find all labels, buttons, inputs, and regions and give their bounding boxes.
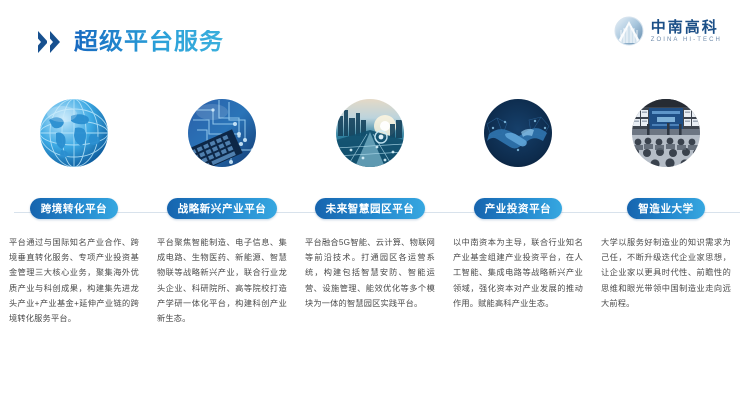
brand-logo: 中南高科 ZOINA HI-TECH bbox=[614, 16, 722, 46]
handshake-image-icon bbox=[475, 90, 561, 176]
page-title: 超级平台服务 bbox=[74, 30, 224, 54]
platform-description: 以中南资本为主导，联合行业知名产业基金组建产业投资平台，在人工智能、集成电路等战… bbox=[453, 235, 583, 311]
platform-description: 大学以服务好制造业的知识需求为己任，不断升级迭代企业家思想，让企业家以更具时代性… bbox=[601, 235, 731, 311]
blue-globe-image-icon bbox=[31, 90, 117, 176]
slide-header: 超级平台服务 bbox=[0, 0, 740, 78]
platform-label-pill[interactable]: 跨境转化平台 bbox=[30, 198, 119, 219]
circuit-board-chip-image-icon bbox=[179, 90, 265, 176]
platform-label-pill[interactable]: 产业投资平台 bbox=[474, 198, 563, 219]
platform-label-pill[interactable]: 智造业大学 bbox=[627, 198, 705, 219]
platform-description: 平台聚焦智能制造、电子信息、集成电路、生物医药、新能源、智慧物联等战略新兴产业，… bbox=[157, 235, 287, 326]
platform-label-pill[interactable]: 未来智慧园区平台 bbox=[315, 198, 426, 219]
double-chevron-right-icon bbox=[38, 31, 60, 53]
smart-city-network-image-icon bbox=[327, 90, 413, 176]
brand-logo-text: 中南高科 ZOINA HI-TECH bbox=[651, 20, 722, 43]
platform-description: 平台通过与国际知名产业合作、跨境垂直转化服务、专项产业投资基金管理三大核心业务，… bbox=[9, 235, 139, 326]
page-title-group: 超级平台服务 bbox=[38, 30, 224, 54]
platform-column: 智造业大学 大学以服务好制造业的知识需求为己任，不断升级迭代企业家思想，让企业家… bbox=[592, 86, 740, 346]
platform-column: 未来智慧园区平台 平台融合5G智能、云计算、物联网等前沿技术。打通园区各运营系统… bbox=[296, 86, 444, 346]
conference-auditorium-image-icon bbox=[623, 90, 709, 176]
platform-description: 平台融合5G智能、云计算、物联网等前沿技术。打通园区各运营系统，构建包括智慧安防… bbox=[305, 235, 435, 311]
zoina-mountain-circle-logo-icon bbox=[614, 16, 644, 46]
platform-column: 跨境转化平台 平台通过与国际知名产业合作、跨境垂直转化服务、专项产业投资基金管理… bbox=[0, 86, 148, 346]
platform-label-pill[interactable]: 战略新兴产业平台 bbox=[167, 198, 278, 219]
slide-root: 超级平台服务 bbox=[0, 0, 740, 416]
brand-name-cn: 中南高科 bbox=[651, 20, 722, 35]
platform-columns: 跨境转化平台 平台通过与国际知名产业合作、跨境垂直转化服务、专项产业投资基金管理… bbox=[0, 86, 740, 346]
brand-name-en: ZOINA HI-TECH bbox=[651, 37, 722, 43]
platform-column: 产业投资平台 以中南资本为主导，联合行业知名产业基金组建产业投资平台，在人工智能… bbox=[444, 86, 592, 346]
platform-column: 战略新兴产业平台 平台聚焦智能制造、电子信息、集成电路、生物医药、新能源、智慧物… bbox=[148, 86, 296, 346]
